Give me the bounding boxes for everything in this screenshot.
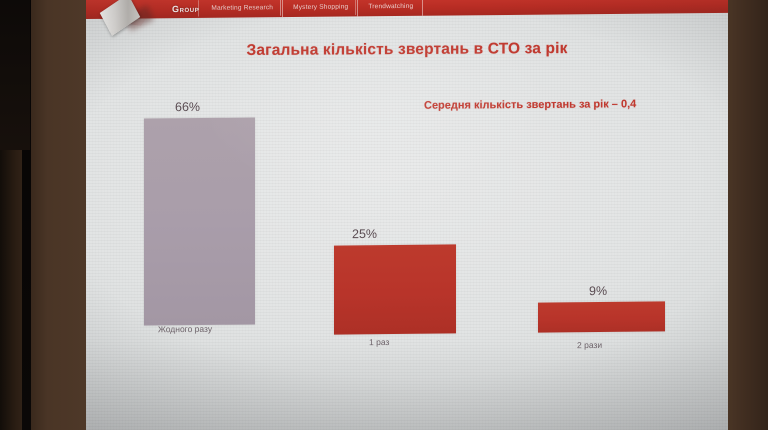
bar-category-label: 2 рази bbox=[577, 340, 602, 350]
slide-content: Загальна кількість звертань в СТО за рік… bbox=[86, 0, 728, 430]
bar-value-label: 66% bbox=[175, 100, 200, 114]
page-title: Загальна кількість звертань в СТО за рік bbox=[86, 39, 728, 61]
right-wall bbox=[726, 0, 768, 430]
projection-screen: Group Marketing Research Mystery Shoppin… bbox=[86, 0, 728, 430]
bar-2-razy bbox=[538, 301, 665, 332]
bar-category-label: 1 раз bbox=[369, 337, 389, 347]
bar-value-label: 25% bbox=[352, 227, 377, 241]
bar-category-label: Жодного разу bbox=[158, 324, 212, 334]
bar-value-label: 9% bbox=[589, 284, 607, 298]
bar-1-raz bbox=[334, 244, 456, 334]
chart-annotation-average: Середня кількість звертань за рік – 0,4 bbox=[424, 98, 636, 111]
dark-corner-panel bbox=[0, 0, 30, 150]
bar-zhodnogo-razu bbox=[144, 117, 255, 325]
